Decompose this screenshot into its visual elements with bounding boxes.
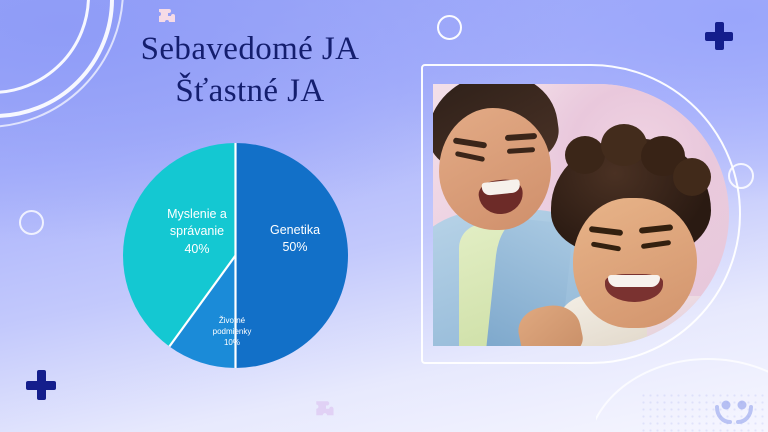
plus-icon-bottom-left bbox=[26, 370, 56, 400]
photo-card bbox=[421, 64, 741, 364]
dot-grid-decoration bbox=[640, 392, 768, 432]
circle-outline-icon-left bbox=[19, 210, 44, 235]
title-line-2: Šťastné JA bbox=[90, 70, 410, 112]
pie-label-zivotne-percent: 10% bbox=[195, 338, 269, 349]
puzzle-piece-icon-bottom bbox=[312, 398, 340, 426]
page-title: Sebavedomé JA Šťastné JA bbox=[90, 28, 410, 112]
photo-clip bbox=[433, 84, 729, 346]
title-line-1: Sebavedomé JA bbox=[141, 31, 360, 67]
photo-image bbox=[433, 84, 729, 346]
circle-outline-icon-top bbox=[437, 15, 462, 40]
pie-label-genetika: Genetika 50% bbox=[251, 222, 339, 257]
brand-logo-icon bbox=[712, 396, 756, 426]
pie-label-genetika-percent: 50% bbox=[251, 239, 339, 256]
pie-label-zivotne-line1: Životné bbox=[195, 316, 269, 327]
pie-label-myslenie-a-spravanie: Myslenie a správanie 40% bbox=[145, 206, 249, 258]
pie-label-genetika-name: Genetika bbox=[251, 222, 339, 239]
pie-label-myslenie-percent: 40% bbox=[145, 241, 249, 258]
slide-canvas: Sebavedomé JA Šťastné JA Myslenie a sprá… bbox=[0, 0, 768, 432]
pie-chart: Myslenie a správanie 40% Genetika 50% Ži… bbox=[123, 143, 348, 368]
pie-label-myslenie-line2: správanie bbox=[145, 223, 249, 240]
swoosh-arc-decoration bbox=[596, 352, 768, 432]
pie-label-zivotne-podmienky: Životné podmienky 10% bbox=[195, 316, 269, 348]
pie-label-zivotne-line2: podmienky bbox=[195, 327, 269, 338]
pie-label-myslenie-line1: Myslenie a bbox=[145, 206, 249, 223]
plus-icon-top-right bbox=[705, 22, 733, 50]
